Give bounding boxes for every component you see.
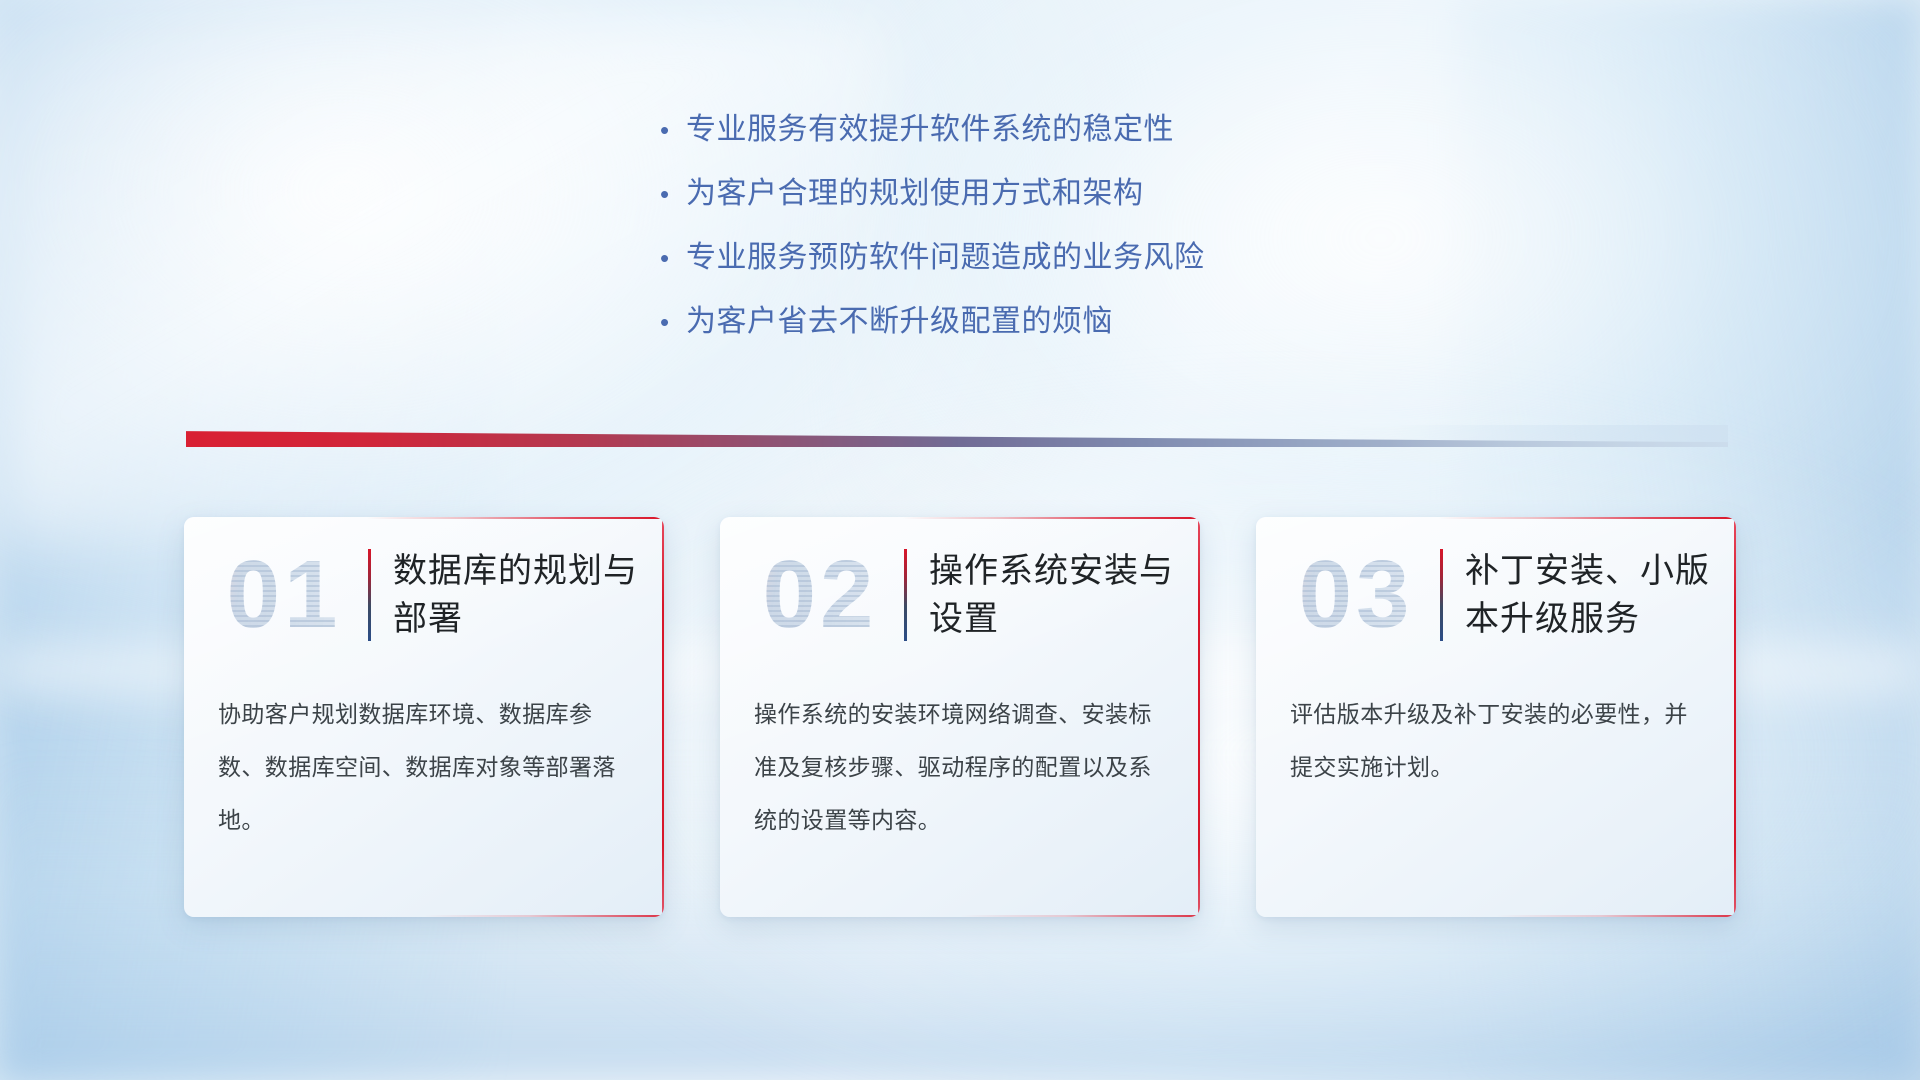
card-row: 01 数据库的规划与部署 协助客户规划数据库环境、数据库参数、数据库空间、数据库… <box>184 517 1736 917</box>
card-body-text: 评估版本升级及补丁安装的必要性，并提交实施计划。 <box>1256 672 1736 794</box>
card-number-watermark: 01 <box>210 540 358 650</box>
bullet-text: 专业服务预防软件问题造成的业务风险 <box>686 238 1205 278</box>
card-03[interactable]: 03 补丁安装、小版本升级服务 评估版本升级及补丁安装的必要性，并提交实施计划。 <box>1256 517 1736 917</box>
card-rule-divider <box>1440 549 1443 641</box>
list-item: • 专业服务预防软件问题造成的业务风险 <box>660 238 1400 302</box>
card-edge-bottom <box>1256 915 1736 917</box>
bullet-text: 专业服务有效提升软件系统的稳定性 <box>686 110 1174 150</box>
bullet-text: 为客户合理的规划使用方式和架构 <box>686 174 1144 214</box>
card-header: 01 数据库的规划与部署 <box>184 517 664 672</box>
card-header: 02 操作系统安装与设置 <box>720 517 1200 672</box>
bullet-text: 为客户省去不断升级配置的烦恼 <box>686 302 1113 342</box>
divider-fade-overlay <box>1389 425 1728 447</box>
card-header: 03 补丁安装、小版本升级服务 <box>1256 517 1736 672</box>
bullet-dot-icon: • <box>660 302 686 342</box>
card-01[interactable]: 01 数据库的规划与部署 协助客户规划数据库环境、数据库参数、数据库空间、数据库… <box>184 517 664 917</box>
card-body-text: 协助客户规划数据库环境、数据库参数、数据库空间、数据库对象等部署落地。 <box>184 672 664 847</box>
card-title: 操作系统安装与设置 <box>929 547 1186 643</box>
card-edge-bottom <box>720 915 1200 917</box>
card-title: 数据库的规划与部署 <box>393 547 650 643</box>
card-title: 补丁安装、小版本升级服务 <box>1465 547 1722 643</box>
card-rule-divider <box>368 549 371 641</box>
bullet-dot-icon: • <box>660 174 686 214</box>
card-rule-divider <box>904 549 907 641</box>
list-item: • 专业服务有效提升软件系统的稳定性 <box>660 110 1400 174</box>
card-02[interactable]: 02 操作系统安装与设置 操作系统的安装环境网络调查、安装标准及复核步骤、驱动程… <box>720 517 1200 917</box>
list-item: • 为客户省去不断升级配置的烦恼 <box>660 302 1400 366</box>
bullet-list: • 专业服务有效提升软件系统的稳定性 • 为客户合理的规划使用方式和架构 • 专… <box>660 110 1400 366</box>
list-item: • 为客户合理的规划使用方式和架构 <box>660 174 1400 238</box>
bullet-dot-icon: • <box>660 110 686 150</box>
card-number-watermark: 02 <box>746 540 894 650</box>
card-edge-bottom <box>184 915 664 917</box>
section-divider <box>186 425 1728 447</box>
bullet-dot-icon: • <box>660 238 686 278</box>
card-number-watermark: 03 <box>1282 540 1430 650</box>
card-body-text: 操作系统的安装环境网络调查、安装标准及复核步骤、驱动程序的配置以及系统的设置等内… <box>720 672 1200 847</box>
